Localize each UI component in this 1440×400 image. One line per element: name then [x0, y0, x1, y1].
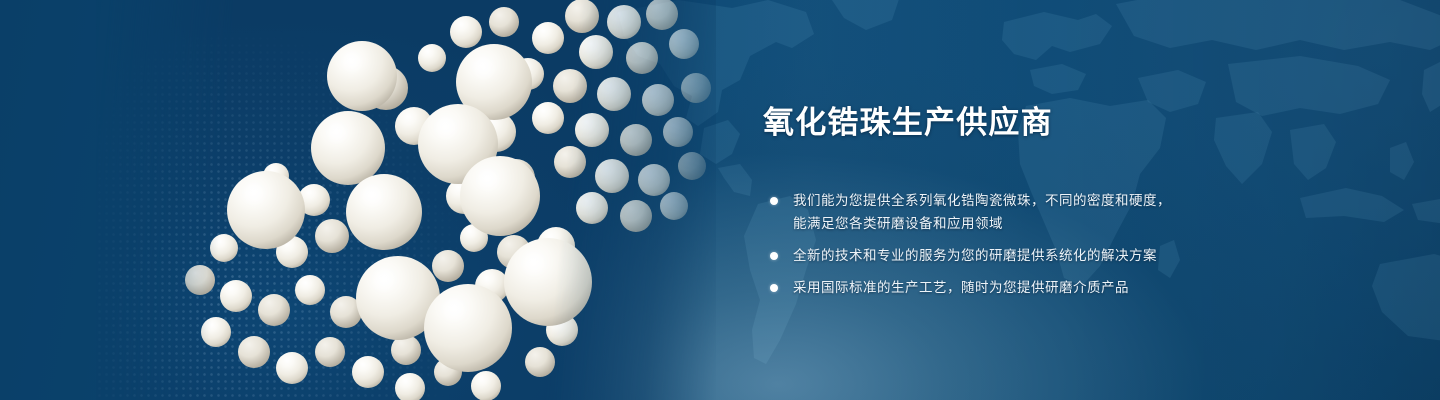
zirconia-beads-photo — [96, 0, 716, 400]
bullet-text-line-1: 全新的技术和专业的服务为您的研磨提供系统化的解决方案 — [793, 248, 1157, 263]
page-title: 氧化锆珠生产供应商 — [763, 104, 1283, 142]
list-item: 全新的技术和专业的服务为您的研磨提供系统化的解决方案 — [763, 244, 1283, 267]
bullet-dot-icon — [770, 284, 778, 292]
hero-banner: 氧化锆珠生产供应商 我们能为您提供全系列氧化锆陶瓷微珠，不同的密度和硬度， 能满… — [0, 0, 1440, 400]
feature-list: 我们能为您提供全系列氧化锆陶瓷微珠，不同的密度和硬度， 能满足您各类研磨设备和应… — [763, 189, 1283, 299]
bead-cluster — [96, 0, 716, 400]
bullet-dot-icon — [770, 252, 778, 260]
bullet-text-line-2: 能满足您各类研磨设备和应用领域 — [793, 212, 1283, 235]
bullet-dot-icon — [770, 197, 778, 205]
bullet-text-line-1: 我们能为您提供全系列氧化锆陶瓷微珠，不同的密度和硬度， — [793, 193, 1171, 208]
bullet-text-line-1: 采用国际标准的生产工艺，随时为您提供研磨介质产品 — [793, 280, 1129, 295]
list-item: 采用国际标准的生产工艺，随时为您提供研磨介质产品 — [763, 276, 1283, 299]
banner-copy: 氧化锆珠生产供应商 我们能为您提供全系列氧化锆陶瓷微珠，不同的密度和硬度， 能满… — [763, 104, 1283, 299]
list-item: 我们能为您提供全系列氧化锆陶瓷微珠，不同的密度和硬度， 能满足您各类研磨设备和应… — [763, 189, 1283, 235]
